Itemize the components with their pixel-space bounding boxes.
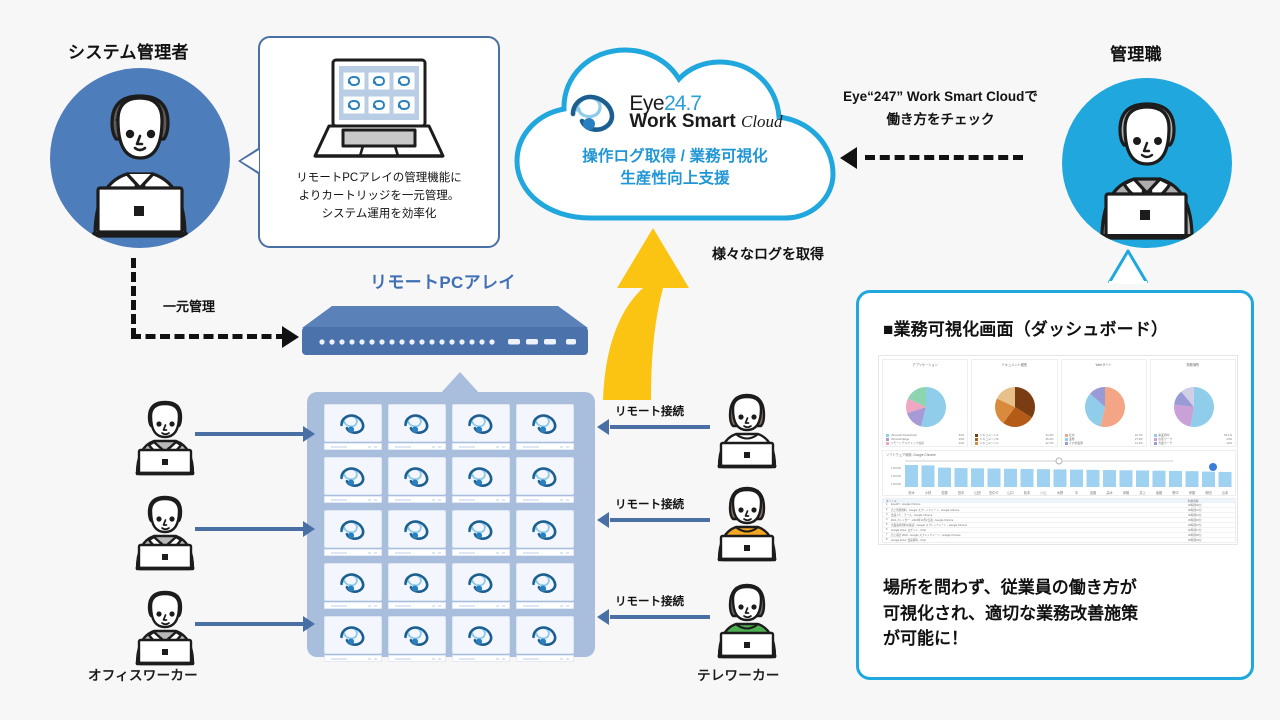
cartridge-base: [516, 496, 574, 503]
pie-legend-row: 方面ワーク12%: [1154, 441, 1232, 445]
logo-line-2: Work Smart Cloud: [629, 112, 782, 131]
cartridge-screen: [324, 563, 382, 601]
cartridge-base: [516, 549, 574, 556]
manager-to-cloud-dashed-line: [865, 155, 1023, 160]
remote-connect-label: リモート接続: [615, 496, 684, 512]
eye247-swirl-icon: [466, 412, 496, 435]
manager-caption-line2: 働き方をチェック: [818, 109, 1063, 132]
cartridge-cell[interactable]: [324, 510, 382, 558]
legend-swatch: [975, 442, 978, 445]
panel-pointer-icon: [1108, 248, 1148, 284]
cartridge-screen: [452, 563, 510, 601]
cloud-subtitle: 操作ログ取得 / 業務可視化 生産性向上支援: [505, 146, 845, 191]
telework-worker-2: [705, 478, 789, 567]
eye247-swirl-icon: [466, 465, 496, 488]
svg-text:1,000:00: 1,000:00: [891, 474, 902, 478]
remote-pc-array-chassis: [300, 302, 590, 363]
table-cell-duration: 00時間03分: [1188, 518, 1232, 522]
cartridge-screen: [452, 457, 510, 495]
cartridge-cell[interactable]: [516, 510, 574, 558]
cartridge-cell[interactable]: [388, 510, 446, 558]
pie-chart-card: アプリケーションMicrosoft PowerPoint54%Microsoft…: [882, 359, 968, 447]
table-cell-title: 売上報告 2023 - Google スプレッドシート - Google Chr…: [891, 533, 1188, 537]
pie-chart-graphic: [1062, 367, 1147, 429]
manager-label: 管理職: [1110, 40, 1162, 65]
cartridge-screen: [516, 510, 574, 548]
curved-up-arrow-icon: [595, 222, 705, 402]
system-administrator-label: システム管理者: [68, 38, 189, 63]
cartridge-screen: [516, 616, 574, 654]
eye247-swirl-icon: [530, 624, 560, 647]
office-worker-3: [123, 582, 207, 671]
eye247-swirl-icon: [402, 465, 432, 488]
eye247-swirl-icon: [338, 518, 368, 541]
eye247-swirl-icon: [402, 518, 432, 541]
callout-laptop-illustration: [313, 56, 445, 169]
legend-swatch: [1065, 438, 1068, 441]
pie-legend: 事業所内53.1%在宅ワーク24%方面ワーク12%: [1154, 433, 1232, 445]
admin-person-icon: [50, 68, 230, 248]
manager-avatar: [1062, 78, 1232, 248]
svg-text:鈴木: 鈴木: [908, 490, 915, 495]
table-cell-duration: 00時間10分: [1188, 513, 1232, 517]
telework-worker-1: [705, 385, 789, 474]
legend-swatch: [886, 442, 889, 445]
cloud-subtitle-line1: 操作ログ取得 / 業務可視化: [505, 146, 845, 168]
log-collection-label: 様々なログを取得: [712, 244, 824, 264]
cartridge-screen: [388, 404, 446, 442]
cartridge-cell[interactable]: [324, 457, 382, 505]
cartridge-screen: [516, 457, 574, 495]
eye247-swirl-logo-icon: [567, 90, 623, 134]
remote-connection-arrowhead: [597, 609, 609, 625]
svg-text:高木: 高木: [1106, 490, 1113, 495]
logo-cloud-text: Cloud: [741, 112, 783, 131]
cloud-subtitle-line2: 生産性向上支援: [505, 168, 845, 190]
svg-text:加藤: 加藤: [1090, 490, 1097, 495]
legend-swatch: [1154, 434, 1157, 437]
cartridge-cell[interactable]: [516, 563, 574, 611]
pie-chart-card: Webサイト社内44.7%業務27.9%その他業務11.2%: [1061, 359, 1147, 447]
svg-text:中: 中: [1075, 490, 1078, 495]
cartridge-base: [324, 496, 382, 503]
legend-swatch: [975, 434, 978, 437]
eye247-swirl-icon: [338, 412, 368, 435]
office-worker-label: オフィスワーカー: [88, 664, 198, 684]
cartridge-screen: [324, 404, 382, 442]
grid-notch-icon: [440, 372, 480, 394]
eye247-swirl-icon: [530, 518, 560, 541]
dashboard-bottom-text: 場所を問わず、従業員の働き方が 可視化され、適切な業務改善施策 が可能に！: [883, 575, 1233, 652]
remote-connection-line: [610, 425, 710, 429]
telework-worker-3-icon: [705, 575, 789, 659]
cartridge-screen: [452, 616, 510, 654]
svg-text:山口: 山口: [1007, 490, 1013, 495]
table-cell-title: Google Drive: ログイン - Chat: [891, 528, 1188, 532]
office-connection-arrowhead: [303, 426, 315, 442]
office-connection-line: [195, 432, 305, 436]
legend-swatch: [1065, 442, 1068, 445]
dashboard-panel-pointer: [1108, 248, 1148, 289]
pie-legend-row: ドキュメントC22.7%: [975, 441, 1053, 445]
legend-value: 12%: [959, 441, 965, 445]
table-cell-title: Google Drive: 会議資料 - Chat: [891, 538, 1188, 542]
cartridge-grid: [324, 404, 574, 664]
legend-swatch: [1154, 442, 1157, 445]
legend-swatch: [1154, 438, 1157, 441]
cartridge-cell[interactable]: [516, 404, 574, 452]
eye247-swirl-icon: [530, 412, 560, 435]
cartridge-screen: [516, 404, 574, 442]
cartridge-base: [516, 602, 574, 609]
office-connection-line: [195, 622, 305, 626]
cartridge-screen: [388, 616, 446, 654]
dashboard-panel-title: ■業務可視化画面（ダッシュボード）: [883, 315, 1168, 340]
cartridge-base: [452, 602, 510, 609]
unified-management-dashed-hline: [131, 334, 286, 339]
pie-chart-graphic: [1151, 367, 1236, 429]
eye247-logo: Eye24.7 Work Smart Cloud: [505, 90, 845, 134]
eye247-swirl-icon: [338, 465, 368, 488]
diagram-canvas: システム管理者 一元管理: [0, 0, 1280, 720]
manager-to-cloud-arrowhead: [840, 147, 857, 169]
cartridge-base: [324, 443, 382, 450]
telework-worker-1-icon: [705, 385, 789, 469]
cartridge-cell[interactable]: [388, 457, 446, 505]
eye247-swirl-icon: [402, 412, 432, 435]
cartridge-cell[interactable]: [452, 563, 510, 611]
admin-callout-line2: よりカートリッジを一元管理。: [260, 188, 498, 206]
cartridge-screen: [324, 616, 382, 654]
cartridge-cell[interactable]: [324, 563, 382, 611]
telework-worker-label: テレワーカー: [697, 664, 780, 684]
legend-label: リモートデスクトップ接続: [891, 441, 958, 445]
svg-text:伊藤: 伊藤: [1189, 490, 1196, 495]
cartridge-base: [452, 549, 510, 556]
cartridge-base: [388, 496, 446, 503]
cartridge-cell[interactable]: [324, 404, 382, 452]
cartridge-base: [388, 655, 446, 662]
legend-value: 12%: [1226, 441, 1232, 445]
svg-text:後藤: 後藤: [1156, 490, 1163, 495]
remote-connection-arrowhead: [597, 512, 609, 528]
admin-callout-tail-inner: [241, 150, 259, 172]
cartridge-base: [388, 549, 446, 556]
svg-text:野中: 野中: [1172, 490, 1178, 495]
pie-chart-graphic: [972, 367, 1057, 429]
logo-worksmart-text: Work Smart: [629, 111, 741, 132]
table-cell-title: 営業進捗資料の確認 - Google スプレッドシート - Google Chr…: [891, 523, 1188, 527]
legend-label: その他業務: [1069, 441, 1134, 445]
svg-text:1,000:00: 1,000:00: [891, 466, 902, 470]
cartridge-screen: [452, 404, 510, 442]
unified-management-label: 一元管理: [163, 296, 215, 315]
manager-caption-line1: Eye“247” Work Smart Cloudで: [818, 86, 1063, 109]
legend-value: 11.2%: [1135, 441, 1143, 445]
eye247-swirl-icon: [466, 518, 496, 541]
cartridge-screen: [324, 457, 382, 495]
admin-callout-text: リモートPCアレイの管理機能に よりカートリッジを一元管理。 システム運用を効率…: [260, 170, 498, 223]
table-cell-duration: 00時間02分: [1188, 503, 1232, 507]
legend-swatch: [886, 434, 889, 437]
svg-text:井上: 井上: [1139, 490, 1146, 495]
cartridge-screen: [388, 510, 446, 548]
legend-swatch: [975, 438, 978, 441]
table-cell-title: 売上管理資料 - Google スプレッドシート - Google Chrome: [891, 508, 1188, 512]
svg-text:小林: 小林: [925, 490, 932, 495]
cartridge-base: [324, 602, 382, 609]
office-worker-2: [123, 487, 207, 576]
table-cell-duration: 00時間05分: [1188, 533, 1232, 537]
office-worker-1: [123, 392, 207, 481]
remote-connection-line: [610, 518, 710, 522]
cartridge-base: [452, 443, 510, 450]
svg-text:水野: 水野: [1057, 490, 1064, 495]
legend-label: 方面ワーク: [1158, 441, 1225, 445]
cartridge-cell[interactable]: [452, 510, 510, 558]
table-cell-title: 会議メモ｜チーム - Google Chrome: [891, 513, 1188, 517]
pie-legend: Microsoft PowerPoint54%Microsoft Edge16%…: [886, 433, 964, 445]
eye247-swirl-icon: [338, 571, 368, 594]
cartridge-cell[interactable]: [388, 563, 446, 611]
remote-connect-label: リモート接続: [615, 403, 684, 419]
cartridge-screen: [516, 563, 574, 601]
cartridge-base: [388, 443, 446, 450]
table-cell-title: Web カレンダー - 2023年10月2日週 - Google Chrome: [891, 518, 1188, 522]
cartridge-screen: [388, 563, 446, 601]
bar-chart-graphic: 1,000:001,000:001,000:00鈴木小林佐藤田中山田田中介山口松…: [883, 457, 1237, 497]
eye247-swirl-icon: [466, 624, 496, 647]
pie-chart-card: ドキュメント種別ドキュメントA34.2%ドキュメントB26.4%ドキュメントC2…: [971, 359, 1057, 447]
unified-management-dashed-vline: [131, 258, 136, 338]
manager-caption: Eye“247” Work Smart Cloudで 働き方をチェック: [818, 86, 1063, 132]
table-cell-duration: 00時間04分: [1188, 538, 1232, 542]
telework-worker-2-icon: [705, 478, 789, 562]
remote-pc-array-title: リモートPCアレイ: [370, 268, 516, 293]
laptop-with-cartridges-icon: [313, 56, 445, 164]
cartridge-cell[interactable]: [388, 616, 446, 664]
dashboard-bottom-line1: 場所を問わず、従業員の働き方が: [883, 575, 1233, 601]
eye247-swirl-icon: [402, 571, 432, 594]
svg-text:1,000:00: 1,000:00: [891, 482, 902, 486]
cartridge-screen: [452, 510, 510, 548]
cartridge-base: [324, 655, 382, 662]
table-cell-duration: 00時間07分: [1188, 523, 1232, 527]
svg-text:田中介: 田中介: [989, 490, 999, 495]
dashboard-bottom-line2: 可視化され、適切な業務改善施策: [883, 601, 1233, 627]
dashboard-data-table: タイトル利用時間1Eye247 - Google Chrome00時間02分2売…: [882, 498, 1236, 543]
cartridge-base: [324, 549, 382, 556]
cartridge-base: [516, 655, 574, 662]
unified-management-arrowhead: [282, 326, 299, 348]
office-connection-arrowhead: [303, 521, 315, 537]
telework-worker-3: [705, 575, 789, 664]
dashboard-panel: ■業務可視化画面（ダッシュボード） アプリケーションMicrosoft Powe…: [856, 290, 1254, 680]
legend-value: 22.7%: [1046, 441, 1054, 445]
legend-label: ドキュメントC: [980, 441, 1044, 445]
cartridge-cell[interactable]: [452, 616, 510, 664]
log-collection-yellow-arrow: [595, 222, 705, 407]
pie-legend-row: その他業務11.2%: [1065, 441, 1143, 445]
remote-connection-line: [610, 615, 710, 619]
array-chassis-icon: [300, 302, 590, 358]
svg-text:伊藤: 伊藤: [1123, 490, 1130, 495]
cartridge-cell[interactable]: [452, 404, 510, 452]
cartridge-cell[interactable]: [516, 457, 574, 505]
cartridge-cell[interactable]: [324, 616, 382, 664]
svg-text:松本: 松本: [1024, 490, 1031, 495]
admin-callout-line1: リモートPCアレイの管理機能に: [260, 170, 498, 188]
svg-text:川上: 川上: [1040, 490, 1047, 495]
eye247-swirl-icon: [530, 465, 560, 488]
remote-connect-label: リモート接続: [615, 593, 684, 609]
svg-text:田中: 田中: [958, 490, 964, 495]
svg-text:佐藤: 佐藤: [941, 490, 948, 495]
table-cell-duration: 00時間21分: [1188, 508, 1232, 512]
cartridge-screen: [324, 510, 382, 548]
remote-connection-arrowhead: [597, 419, 609, 435]
admin-callout-box: リモートPCアレイの管理機能に よりカートリッジを一元管理。 システム運用を効率…: [258, 36, 500, 248]
cartridge-screen: [388, 457, 446, 495]
dashboard-bar-chart: ソフトウェア利用: Google Chrome1,000:001,000:001…: [882, 450, 1236, 496]
eye247-swirl-icon: [402, 624, 432, 647]
svg-text:山田: 山田: [974, 490, 980, 495]
svg-text:柳田: 柳田: [1205, 490, 1211, 495]
cartridge-cell[interactable]: [388, 404, 446, 452]
cartridge-base: [516, 443, 574, 450]
cartridge-base: [388, 602, 446, 609]
cartridge-grid-panel: [307, 392, 595, 657]
dashboard-pie-row: アプリケーションMicrosoft PowerPoint54%Microsoft…: [882, 359, 1236, 447]
cartridge-base: [452, 655, 510, 662]
office-connection-arrowhead: [303, 616, 315, 632]
eye247-swirl-icon: [466, 571, 496, 594]
manager-person-icon: [1062, 78, 1232, 248]
dashboard-bottom-line3: が可能に！: [883, 626, 1233, 652]
system-administrator-avatar: [50, 68, 230, 248]
table-cell-duration: 00時間17分: [1188, 528, 1232, 532]
cartridge-base: [452, 496, 510, 503]
pie-legend: ドキュメントA34.2%ドキュメントB26.4%ドキュメントC22.7%: [975, 433, 1053, 445]
office-connection-line: [195, 527, 305, 531]
table-cell-title: Eye247 - Google Chrome: [891, 503, 1188, 507]
pie-chart-card: 勤務場所事業所内53.1%在宅ワーク24%方面ワーク12%: [1150, 359, 1236, 447]
cartridge-cell[interactable]: [516, 616, 574, 664]
work-visualization-dashboard-screenshot[interactable]: アプリケーションMicrosoft PowerPoint54%Microsoft…: [878, 355, 1238, 545]
eye247-cloud: Eye24.7 Work Smart Cloud 操作ログ取得 / 業務可視化 …: [505, 32, 845, 227]
cartridge-cell[interactable]: [452, 457, 510, 505]
admin-callout-line3: システム運用を効率化: [260, 206, 498, 224]
eye247-swirl-icon: [338, 624, 368, 647]
legend-swatch: [1065, 434, 1068, 437]
pie-chart-graphic: [883, 367, 968, 429]
svg-text:山本: 山本: [1222, 490, 1229, 495]
pie-legend: 社内44.7%業務27.9%その他業務11.2%: [1065, 433, 1143, 445]
legend-swatch: [886, 438, 889, 441]
pie-legend-row: リモートデスクトップ接続12%: [886, 441, 964, 445]
eye247-swirl-icon: [530, 571, 560, 594]
